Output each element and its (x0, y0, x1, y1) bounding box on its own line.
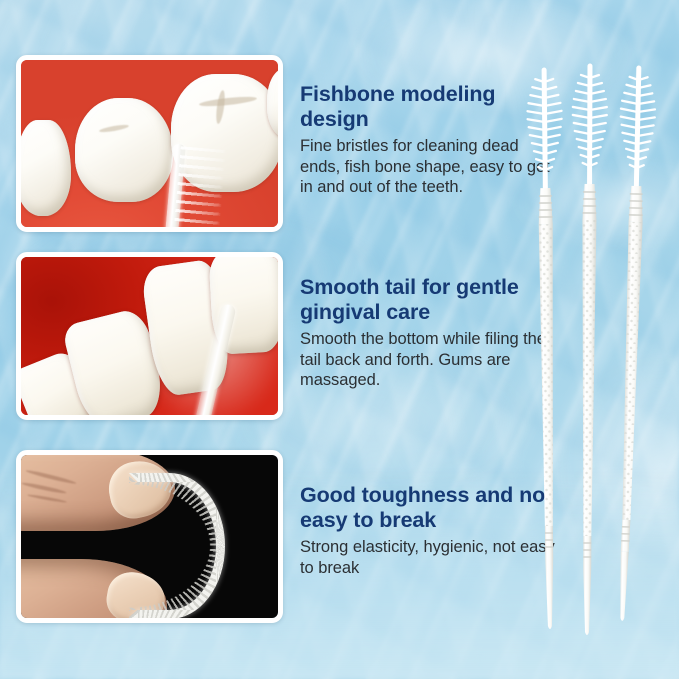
dotted-grip-shaft (539, 224, 556, 526)
tooth (75, 98, 173, 202)
product-infographic: Fishbone modeling design Fine bristles f… (0, 0, 679, 679)
smooth-tapered-tail (619, 552, 628, 621)
smooth-tapered-tail (583, 568, 591, 635)
feature-photo-toughness (16, 450, 283, 623)
fishbone-bristle-head (619, 68, 655, 187)
lower-ribbed-collar (545, 526, 553, 558)
feature-photo-fishbone (16, 55, 283, 232)
fishbone-bristle-head (527, 70, 562, 188)
fishbone-bristle-head (573, 66, 607, 184)
ribbed-neck-collar (629, 186, 644, 222)
photo-incisors-with-tail (21, 257, 278, 415)
feature-photo-smooth-tail (16, 252, 283, 420)
photo-molars-with-brush (21, 60, 278, 227)
lower-ribbed-collar (621, 520, 631, 552)
interdental-pick (602, 56, 666, 637)
smooth-tapered-tail (545, 558, 554, 629)
tooth (21, 120, 71, 216)
photo-bending-pick (21, 455, 278, 618)
dotted-grip-shaft (622, 222, 642, 520)
ribbed-neck-collar (538, 188, 552, 224)
fishbone-bristles (173, 146, 226, 227)
lower-ribbed-collar (583, 536, 591, 568)
ribbed-neck-collar (582, 184, 596, 220)
product-picks-group (520, 56, 675, 636)
dotted-grip-shaft (581, 220, 596, 536)
